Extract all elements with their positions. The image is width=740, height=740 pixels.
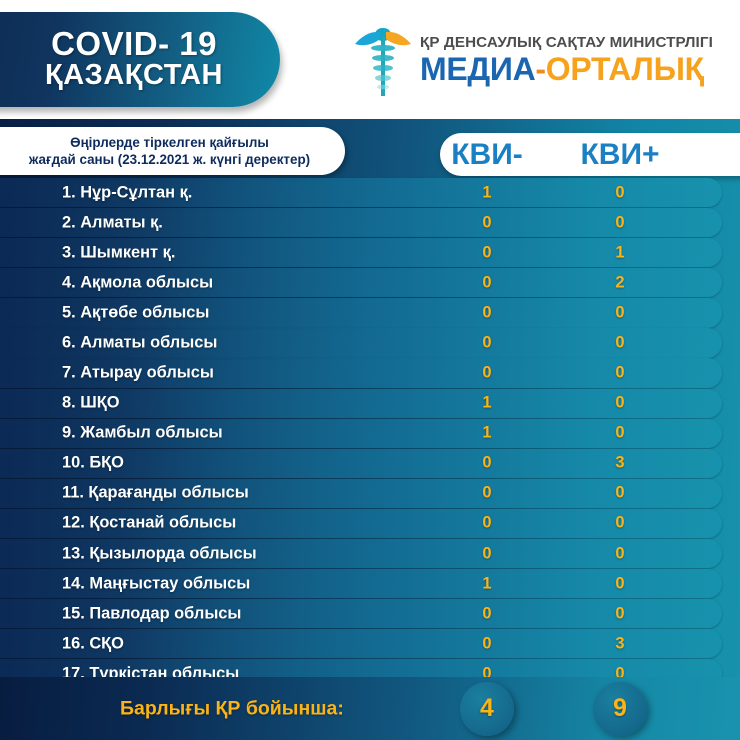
infographic-page: COVID- 19 ҚАЗАҚСТАН ҚР ДЕНСАУЛЫҚ САҚТАУ … xyxy=(0,0,740,740)
region-label: 10. БҚО xyxy=(62,454,124,473)
value-positive: 0 xyxy=(615,544,624,563)
value-positive: 1 xyxy=(615,243,624,262)
region-label: 14. Маңғыстау облысы xyxy=(62,574,250,593)
value-negative: 0 xyxy=(482,364,491,383)
covid-title-badge: COVID- 19 ҚАЗАҚСТАН xyxy=(0,12,280,107)
table-row: 1. Нұр-Сұлтан қ.10 xyxy=(0,178,722,207)
logo-word-ortalyq: ОРТАЛЫҚ xyxy=(546,51,704,87)
value-negative: 0 xyxy=(482,273,491,292)
region-label: 15. Павлодар облысы xyxy=(62,604,241,623)
value-positive: 0 xyxy=(615,213,624,232)
value-positive: 0 xyxy=(615,364,624,383)
column-header-negative: КВИ- xyxy=(451,138,523,172)
caduceus-icon xyxy=(352,22,414,100)
total-positive-value: 9 xyxy=(613,694,627,723)
table-row: 7. Атырау облысы00 xyxy=(0,358,722,387)
header-band: COVID- 19 ҚАЗАҚСТАН ҚР ДЕНСАУЛЫҚ САҚТАУ … xyxy=(0,0,740,119)
value-negative: 1 xyxy=(482,394,491,413)
logo-ministry-line: ҚР ДЕНСАУЛЫҚ САҚТАУ МИНИСТРЛІГІ xyxy=(420,35,737,52)
table-row: 8. ШҚО10 xyxy=(0,389,722,418)
value-negative: 0 xyxy=(482,484,491,503)
value-negative: 0 xyxy=(482,604,491,623)
table-row: 2. Алматы қ.00 xyxy=(0,208,722,237)
page-title-line1: COVID- 19 xyxy=(51,27,217,61)
table-row: 3. Шымкент қ.01 xyxy=(0,238,722,267)
total-negative-badge: 4 xyxy=(460,682,514,736)
value-positive: 0 xyxy=(615,484,624,503)
logo-media-center-line: МЕДИА-ОРТАЛЫҚ xyxy=(420,52,737,87)
table-row: 6. Алматы облысы00 xyxy=(0,328,722,357)
value-negative: 0 xyxy=(482,544,491,563)
region-label: 6. Алматы облысы xyxy=(62,333,217,352)
table-row: 10. БҚО03 xyxy=(0,449,722,478)
table-row: 9. Жамбыл облысы10 xyxy=(0,419,722,448)
value-positive: 3 xyxy=(615,454,624,473)
table-row: 11. Қарағанды облысы00 xyxy=(0,479,722,508)
region-table: 1. Нұр-Сұлтан қ.102. Алматы қ.003. Шымке… xyxy=(0,178,740,689)
region-label: 1. Нұр-Сұлтан қ. xyxy=(62,183,192,202)
value-positive: 0 xyxy=(615,604,624,623)
value-negative: 0 xyxy=(482,303,491,322)
region-label: 8. ШҚО xyxy=(62,394,119,413)
region-label: 9. Жамбыл облысы xyxy=(62,424,223,443)
value-negative: 0 xyxy=(482,514,491,533)
total-negative-value: 4 xyxy=(480,694,494,723)
value-negative: 0 xyxy=(482,454,491,473)
value-positive: 0 xyxy=(615,333,624,352)
total-row: Барлығы ҚР бойынша: 4 9 xyxy=(0,677,740,740)
table-row: 13. Қызылорда облысы00 xyxy=(0,539,722,568)
value-negative: 0 xyxy=(482,213,491,232)
region-label: 2. Алматы қ. xyxy=(62,213,163,232)
subtitle-line1: Өңірлерде тіркелген қайғылы xyxy=(70,134,269,151)
value-negative: 0 xyxy=(482,333,491,352)
value-positive: 0 xyxy=(615,574,624,593)
value-negative: 1 xyxy=(482,574,491,593)
subtitle-line2: жағдай саны (23.12.2021 ж. күнгі деректе… xyxy=(29,151,310,168)
value-positive: 2 xyxy=(615,273,624,292)
logo-text: ҚР ДЕНСАУЛЫҚ САҚТАУ МИНИСТРЛІГІ МЕДИА-ОР… xyxy=(420,35,737,88)
region-label: 16. СҚО xyxy=(62,634,124,653)
value-positive: 0 xyxy=(615,424,624,443)
page-title-line2: ҚАЗАҚСТАН xyxy=(45,60,223,92)
region-label: 13. Қызылорда облысы xyxy=(62,544,257,563)
table-row: 16. СҚО03 xyxy=(0,629,722,658)
value-negative: 0 xyxy=(482,634,491,653)
value-negative: 1 xyxy=(482,183,491,202)
ministry-logo: ҚР ДЕНСАУЛЫҚ САҚТАУ МИНИСТРЛІГІ МЕДИА-ОР… xyxy=(352,18,737,104)
value-positive: 0 xyxy=(615,514,624,533)
region-label: 7. Атырау облысы xyxy=(62,364,214,383)
value-negative: 0 xyxy=(482,243,491,262)
value-positive: 3 xyxy=(615,634,624,653)
column-header-pill: КВИ- КВИ+ xyxy=(440,133,740,176)
region-label: 4. Ақмола облысы xyxy=(62,273,213,292)
logo-dash: - xyxy=(535,51,545,87)
region-label: 3. Шымкент қ. xyxy=(62,243,175,262)
total-label: Барлығы ҚР бойынша: xyxy=(120,697,344,720)
table-row: 5. Ақтөбе облысы00 xyxy=(0,298,722,327)
subtitle-pill: Өңірлерде тіркелген қайғылы жағдай саны … xyxy=(0,127,345,175)
column-header-positive: КВИ+ xyxy=(580,138,659,172)
region-label: 11. Қарағанды облысы xyxy=(62,484,249,503)
table-row: 4. Ақмола облысы02 xyxy=(0,268,722,297)
region-label: 12. Қостанай облысы xyxy=(62,514,236,533)
value-positive: 0 xyxy=(615,303,624,322)
region-label: 5. Ақтөбе облысы xyxy=(62,303,209,322)
table-row: 14. Маңғыстау облысы10 xyxy=(0,569,722,598)
value-positive: 0 xyxy=(615,394,624,413)
value-positive: 0 xyxy=(615,183,624,202)
table-row: 15. Павлодар облысы00 xyxy=(0,599,722,628)
total-positive-badge: 9 xyxy=(593,682,647,736)
table-row: 12. Қостанай облысы00 xyxy=(0,509,722,538)
logo-word-media: МЕДИА xyxy=(420,51,535,87)
value-negative: 1 xyxy=(482,424,491,443)
